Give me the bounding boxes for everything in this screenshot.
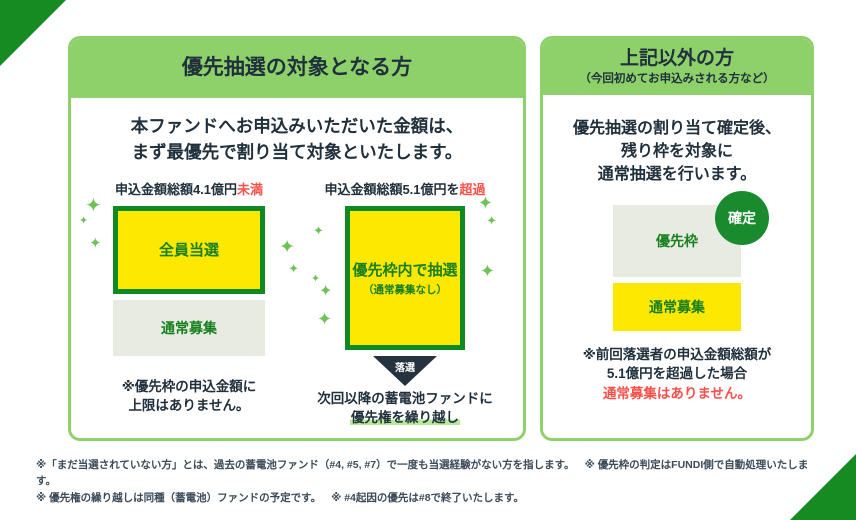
panel-left-lead: 本ファンドへお申込みいただいた金額は、 まず最優先で割り当て対象といたします。 — [81, 114, 513, 165]
column-1-caption-plain: 申込金額総額4.1億円 — [115, 182, 237, 197]
sparkle-icon: ✦ — [319, 284, 332, 300]
column-1-caption: 申込金額総額4.1億円未満 — [115, 179, 263, 198]
column-2-diagram: ✦ ✦ ✦ ✦ ✦ ✦ ✦ ✦ ✦ ✦ ✦ — [345, 206, 465, 350]
footer-note-2a: ※ 優先権の繰り越しは同種（蓄電池）ファンドの予定です。 — [36, 492, 321, 504]
panels-container: 優先抽選の対象となる方 本ファンドへお申込みいただいた金額は、 まず最優先で割り… — [68, 36, 820, 441]
box-all-winners-label: 全員当選 — [159, 239, 219, 260]
corner-decoration-top-left — [0, 0, 66, 66]
footer-notes: ※「まだ当選されていない方」とは、過去の蓄電池ファンド（#4, #5, #7）で… — [36, 457, 820, 506]
box-priority-slot-label: 優先枠 — [656, 231, 698, 251]
footer-note-1a: ※「まだ当選されていない方」とは、過去の蓄電池ファンド（#4, #5, #7）で… — [36, 459, 575, 471]
panel-left-title: 優先抽選の対象となる方 — [182, 56, 412, 79]
column-1-caption-emphasis: 未満 — [237, 182, 263, 197]
sparkle-icon: ✦ — [486, 214, 497, 227]
right-lead-line-1: 優先抽選の割り当て確定後、 — [553, 117, 801, 140]
sparkle-icon: ✦ — [279, 238, 295, 257]
footer-note-2b: ※ #4起因の優先は#8で終了いたします。 — [331, 492, 524, 504]
right-note-line-2: 5.1億円を超過した場合 — [553, 364, 801, 384]
footer-line-1: ※「まだ当選されていない方」とは、過去の蓄電池ファンド（#4, #5, #7）で… — [36, 457, 820, 490]
column-over-threshold: 申込金額総額5.1億円を超過 ✦ ✦ ✦ ✦ ✦ ✦ ✦ ✦ — [297, 179, 513, 428]
box-normal-offering-left-label: 通常募集 — [161, 318, 217, 338]
panel-right-body: 優先抽選の割り当て確定後、 残り枠を対象に 通常抽選を行います。 確定 優先枠 … — [543, 95, 811, 438]
panel-right-lead: 優先抽選の割り当て確定後、 残り枠を対象に 通常抽選を行います。 — [553, 117, 801, 187]
panel-right-header: 上記以外の方 （今回初めてお申込みされる方など） — [543, 39, 811, 95]
status-badge-label: 確定 — [728, 208, 756, 228]
column-1-note: ※優先枠の申込金額に 上限はありません。 — [122, 378, 257, 416]
lead-line-2: まず最優先で割り当て対象といたします。 — [81, 140, 513, 165]
right-note-line-3-warning: 通常募集はありません。 — [553, 384, 801, 404]
panel-other-applicants: 上記以外の方 （今回初めてお申込みされる方など） 優先抽選の割り当て確定後、 残… — [540, 36, 814, 441]
right-lead-line-2: 残り枠を対象に — [553, 140, 801, 163]
sparkle-icon: ✦ — [317, 310, 332, 328]
right-note-line-1: ※前回落選者の申込金額総額が — [553, 345, 801, 365]
box-all-winners: 全員当選 — [113, 206, 265, 294]
sparkle-icon: ✦ — [313, 224, 324, 237]
column-2-note-highlight: 優先権を繰り越し — [350, 410, 460, 425]
panel-priority-lottery: 優先抽選の対象となる方 本ファンドへお申込みいただいた金額は、 まず最優先で割り… — [68, 36, 526, 441]
status-badge-confirmed: 確定 — [715, 191, 769, 245]
infographic-root: 優先抽選の対象となる方 本ファンドへお申込みいただいた金額は、 まず最優先で割り… — [0, 0, 856, 520]
panel-right-subtitle: （今回初めてお申込みされる方など） — [549, 73, 805, 86]
box-normal-offering-right-label: 通常募集 — [649, 297, 705, 317]
column-2-caption-plain: 申込金額総額5.1億円を — [324, 182, 459, 197]
box-normal-offering-right: 通常募集 — [613, 283, 741, 331]
sparkle-icon: ✦ — [311, 274, 320, 285]
box-priority-lottery: 優先枠内で抽選 （通常募集なし） — [345, 206, 465, 350]
arrow-loss-label: 落選 — [373, 359, 437, 374]
left-columns: 申込金額総額4.1億円未満 ✦ ✦ ✦ ✦ ✦ ✦ ✦ ✦ — [81, 179, 513, 428]
column-2-note: 次回以降の蓄電池ファンドに 優先権を繰り越し — [317, 390, 493, 428]
column-under-threshold: 申込金額総額4.1億円未満 ✦ ✦ ✦ ✦ ✦ ✦ ✦ ✦ — [81, 179, 297, 428]
column-1-diagram: ✦ ✦ ✦ ✦ ✦ ✦ ✦ ✦ 全員当選 — [113, 206, 265, 356]
right-note: ※前回落選者の申込金額総額が 5.1億円を超過した場合 通常募集はありません。 — [553, 345, 801, 404]
panel-right-title: 上記以外の方 — [620, 48, 734, 69]
sparkle-icon: ✦ — [480, 262, 495, 280]
box-priority-lottery-sublabel: （通常募集なし） — [363, 282, 447, 297]
column-2-note-line-2: 優先権を繰り越し — [317, 409, 493, 428]
panel-left-header: 優先抽選の対象となる方 — [71, 39, 523, 98]
sparkle-icon: ✦ — [79, 216, 88, 227]
column-2-note-line-1: 次回以降の蓄電池ファンドに — [317, 390, 493, 409]
right-lead-line-3: 通常抽選を行います。 — [553, 163, 801, 186]
right-diagram: 確定 優先枠 通常募集 — [613, 205, 741, 331]
lead-line-1: 本ファンドへお申込みいただいた金額は、 — [81, 114, 513, 139]
panel-left-body: 本ファンドへお申込みいただいた金額は、 まず最優先で割り当て対象といたします。 … — [71, 98, 523, 438]
column-2-caption-emphasis: 超過 — [460, 182, 486, 197]
column-2-caption: 申込金額総額5.1億円を超過 — [324, 179, 485, 198]
column-1-note-line-2: 上限はありません。 — [122, 397, 257, 416]
sparkle-icon: ✦ — [89, 236, 102, 251]
box-normal-offering-left: 通常募集 — [113, 300, 265, 356]
footer-line-2: ※ 優先権の繰り越しは同種（蓄電池）ファンドの予定です。※ #4起因の優先は#8… — [36, 490, 820, 506]
sparkle-icon: ✦ — [85, 196, 102, 216]
column-1-note-line-1: ※優先枠の申込金額に — [122, 378, 257, 397]
box-priority-lottery-label: 優先枠内で抽選 — [352, 259, 457, 280]
arrow-loss: 落選 — [373, 356, 437, 386]
